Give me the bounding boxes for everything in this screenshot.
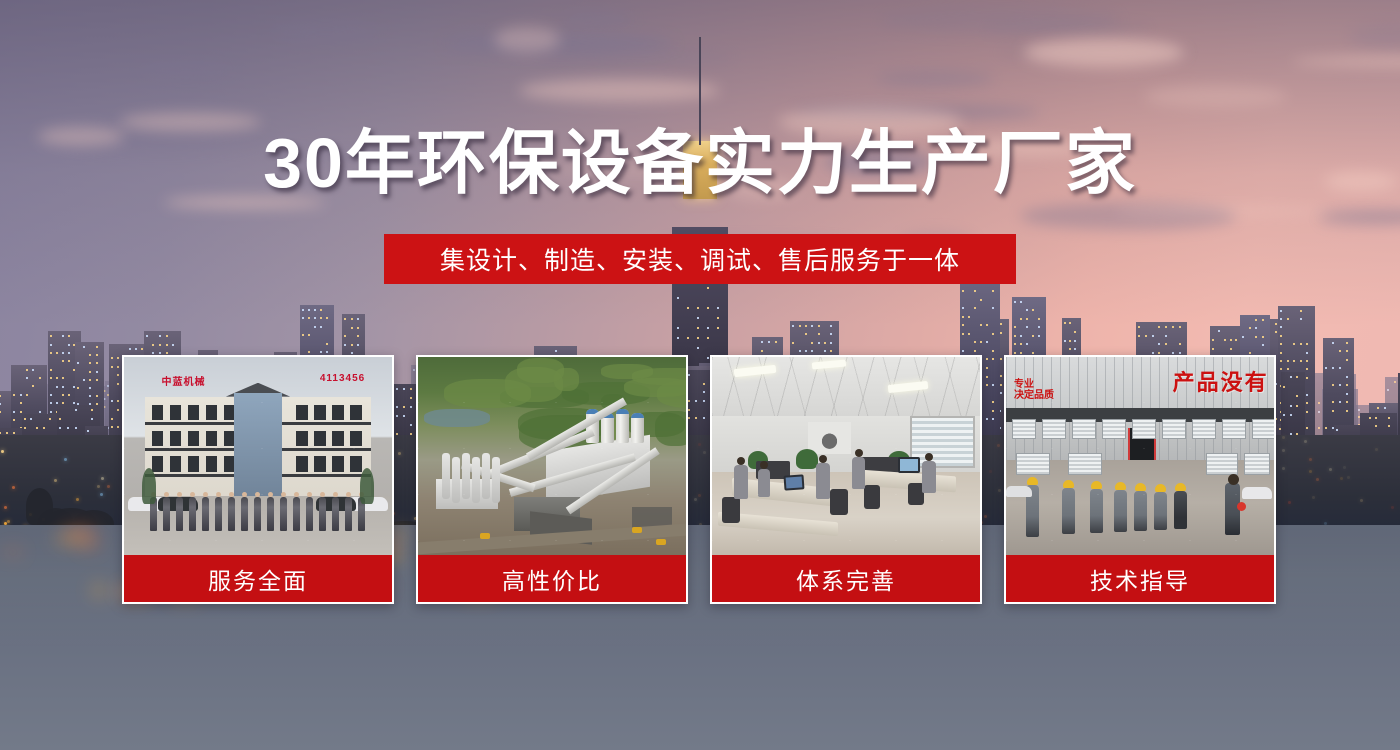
building-window [87, 430, 89, 432]
building-window [1262, 336, 1264, 338]
facade-window [350, 431, 361, 446]
parked-car [1242, 487, 1272, 499]
office-staff-head [855, 449, 863, 457]
staff-head [164, 492, 169, 497]
feature-card-list: 中蓝机械 4113456 服务全面 高性价比 [122, 355, 1278, 604]
card-photo-factory-workers: 产品没有 专业 决定品质 [1006, 357, 1274, 555]
building-window [962, 333, 964, 335]
green-field [655, 411, 686, 446]
building-window [1300, 343, 1302, 345]
building-window [962, 290, 964, 292]
factory-window [1016, 453, 1050, 475]
building-window [811, 350, 813, 352]
building-window [1138, 335, 1140, 337]
building-window [1332, 367, 1334, 369]
building-window [1387, 389, 1389, 391]
preheater-column [472, 457, 480, 503]
building-window [68, 335, 70, 337]
building-window [1346, 393, 1348, 395]
building-window [117, 383, 119, 385]
building-window [1300, 360, 1302, 362]
building-window [761, 341, 763, 343]
building-window [1020, 335, 1022, 337]
building-window [62, 386, 64, 388]
building-window [1026, 309, 1028, 311]
facade-window [206, 405, 217, 420]
staff-head [203, 492, 208, 497]
building-window [0, 411, 1, 413]
building-window [1296, 395, 1298, 397]
tower-window [677, 327, 679, 329]
card-photo-plant-aerial [418, 357, 686, 555]
building-window [1336, 429, 1338, 431]
preheater-column [462, 453, 470, 499]
parked-car [1006, 486, 1032, 497]
cloud [1116, 205, 1330, 217]
factory-slogan-small: 专业 决定品质 [1014, 379, 1054, 402]
card-photo-office-interior [712, 357, 980, 555]
building-window [1296, 405, 1298, 407]
building-window [166, 352, 168, 354]
building-window [89, 362, 91, 364]
building-window [1074, 340, 1076, 342]
building-window [68, 360, 70, 362]
bank-light [1304, 440, 1307, 443]
building-window [1165, 326, 1167, 328]
building-window [89, 395, 91, 397]
building-window [986, 341, 988, 343]
building-window [1158, 352, 1160, 354]
building-window [89, 371, 91, 373]
bank-light [1316, 478, 1319, 481]
office-staff-head [760, 461, 768, 469]
building-window [1138, 326, 1140, 328]
monitor [784, 474, 805, 490]
building-window [1332, 401, 1334, 403]
building-window [1280, 335, 1282, 337]
bank-light [97, 485, 100, 488]
card-caption-guidance: 技术指导 [1006, 555, 1274, 602]
building-window [1069, 322, 1071, 324]
tower-window [697, 347, 699, 349]
subtitle-banner: 集设计、制造、安装、调试、售后服务于一体 [384, 234, 1016, 284]
building-window [39, 377, 41, 379]
excavator [656, 539, 666, 545]
building-window [992, 350, 994, 352]
building-window [135, 348, 137, 350]
building-window [1287, 368, 1289, 370]
building-window [1388, 425, 1390, 427]
building-window [1339, 350, 1341, 352]
building-window [30, 418, 32, 420]
building-window [6, 432, 8, 434]
building-window [1074, 348, 1076, 350]
bank-light [1309, 458, 1312, 461]
building-window [1388, 417, 1390, 419]
building-window [986, 324, 988, 326]
building-window [1158, 326, 1160, 328]
feature-card-value[interactable]: 高性价比 [416, 355, 688, 604]
building-window [1032, 309, 1034, 311]
building-window [1020, 318, 1022, 320]
building-window [166, 335, 168, 337]
building-window [1179, 352, 1181, 354]
building-window [1346, 410, 1348, 412]
facade-window [314, 456, 325, 471]
building-window [13, 432, 15, 434]
bank-light [1329, 468, 1332, 471]
building-window [56, 402, 58, 404]
building-window [1280, 360, 1282, 362]
building-window [775, 341, 777, 343]
building-window [96, 379, 98, 381]
tower-window [707, 327, 709, 329]
building-window [117, 426, 119, 428]
factory-worker [1174, 491, 1187, 529]
cloud [519, 79, 720, 102]
green-field [601, 364, 653, 378]
building-window [344, 344, 346, 346]
building-window [50, 411, 52, 413]
facade-window [206, 456, 217, 471]
building-window [1290, 376, 1292, 378]
building-window [117, 400, 119, 402]
building-window [351, 352, 353, 354]
building-window [799, 350, 801, 352]
building-window [36, 427, 38, 429]
building-window [974, 290, 976, 292]
safety-helmet [1027, 477, 1038, 485]
building-window [962, 350, 964, 352]
building-window [1375, 425, 1377, 427]
office-staff [758, 469, 770, 497]
building-window [62, 352, 64, 354]
wall-poster [808, 422, 851, 454]
building-window [1358, 409, 1360, 411]
ceiling-grid [712, 357, 980, 416]
facade-window [332, 405, 343, 420]
preheater-column [452, 457, 460, 503]
building-window [1332, 384, 1334, 386]
building-window [32, 385, 34, 387]
bank-light [12, 486, 15, 489]
staff-head [268, 492, 273, 497]
building-window [50, 377, 52, 379]
building-window [1158, 343, 1160, 345]
office-chair [722, 497, 740, 523]
building-window [91, 418, 93, 420]
factory-window [1162, 419, 1186, 439]
building-window [1346, 384, 1348, 386]
page-title: 30年环保设备实力生产厂家 [0, 128, 1400, 198]
facade-window [332, 431, 343, 446]
building-window [96, 371, 98, 373]
building-window [117, 366, 119, 368]
bank-light [1375, 448, 1378, 451]
building-window [1275, 323, 1277, 325]
supervisor-head [1228, 474, 1239, 485]
staff-head [255, 492, 260, 497]
red-helmet-held [1237, 502, 1246, 511]
factory-window [1222, 419, 1246, 439]
building-window [1293, 360, 1295, 362]
building-window [152, 344, 154, 346]
building-window [555, 350, 557, 352]
building-window [1020, 352, 1022, 354]
building-window [62, 377, 64, 379]
building-window [1026, 343, 1028, 345]
building-window [172, 344, 174, 346]
building-window [1179, 326, 1181, 328]
staff-head [229, 492, 234, 497]
building-window [1172, 326, 1174, 328]
factory-slogan-small-1: 专业 [1014, 379, 1034, 390]
building-window [59, 418, 61, 420]
building-window [314, 317, 316, 319]
building-window [1014, 326, 1016, 328]
facade-window [296, 431, 307, 446]
building-window [351, 327, 353, 329]
building-window [1300, 318, 1302, 320]
building-window [1394, 381, 1396, 383]
tower-window [697, 307, 699, 309]
building-window [1218, 330, 1220, 332]
office-building-scene: 中蓝机械 4113456 [124, 357, 392, 555]
building-window [1280, 318, 1282, 320]
building-window [1346, 350, 1348, 352]
building-window [326, 343, 328, 345]
building-window [1318, 427, 1320, 429]
building-window [818, 342, 820, 344]
building-window [357, 327, 359, 329]
tree [142, 468, 156, 504]
staff-member [280, 497, 287, 531]
tower-window [707, 287, 709, 289]
office-staff-head [737, 457, 745, 465]
silo-cap [631, 413, 644, 418]
staff-head [177, 492, 182, 497]
building-window [1014, 352, 1016, 354]
bank-light [1288, 501, 1291, 504]
building-window [314, 309, 316, 311]
factory-window [1102, 419, 1126, 439]
factory-window [1244, 453, 1270, 475]
staff-member [267, 497, 274, 531]
building-window [1145, 335, 1147, 337]
building-window [83, 379, 85, 381]
card-photo-office-building: 中蓝机械 4113456 [124, 357, 392, 555]
factory-window [1252, 419, 1274, 439]
building-window [1249, 327, 1251, 329]
factory-window [1132, 419, 1156, 439]
building-window [308, 334, 310, 336]
building-window [1306, 377, 1308, 379]
building-window [96, 354, 98, 356]
building-window [974, 307, 976, 309]
building-window [980, 299, 982, 301]
cloud [561, 14, 633, 24]
staff-head [281, 492, 286, 497]
pond [424, 409, 490, 427]
building-window [1369, 417, 1371, 419]
building-window [49, 418, 51, 420]
building-window [320, 317, 322, 319]
office-staff [734, 465, 748, 499]
building-window [1290, 405, 1292, 407]
building-window [308, 309, 310, 311]
building-window [1152, 352, 1154, 354]
tower-window [677, 297, 679, 299]
safety-helmet [1175, 483, 1186, 491]
building-window [26, 377, 28, 379]
factory-worker [1062, 488, 1075, 534]
tower-window [687, 307, 689, 309]
monitor [898, 457, 920, 473]
building-window [50, 394, 52, 396]
staff-member [306, 497, 313, 531]
bank-light [1, 450, 4, 453]
tower-window [707, 307, 709, 309]
building-window [62, 360, 64, 362]
building-window [1038, 335, 1040, 337]
building-window [117, 357, 119, 359]
building-window [1318, 411, 1320, 413]
building-window [1255, 327, 1257, 329]
building-window [1384, 407, 1386, 409]
building-window [20, 411, 22, 413]
factory-window [1072, 419, 1096, 439]
building-window [1339, 401, 1341, 403]
building-window [968, 316, 970, 318]
building-window [1032, 335, 1034, 337]
building-window [1325, 367, 1327, 369]
bank-light [1340, 477, 1343, 480]
subtitle-text: 集设计、制造、安装、调试、售后服务于一体 [440, 241, 960, 277]
building-window [1179, 343, 1181, 345]
building-window [1306, 402, 1308, 404]
building-window [75, 427, 77, 429]
facade-window [188, 456, 199, 471]
building-window [1287, 318, 1289, 320]
building-window [805, 350, 807, 352]
building-window [320, 326, 322, 328]
building-window [1165, 343, 1167, 345]
tower-window [687, 337, 689, 339]
building-window [159, 344, 161, 346]
building-window [159, 335, 161, 337]
building-window [62, 394, 64, 396]
building-window [96, 346, 98, 348]
bank-light [101, 477, 104, 480]
building-window [357, 335, 359, 337]
building-window [974, 350, 976, 352]
building-window [992, 307, 994, 309]
building-window [1064, 322, 1066, 324]
building-window [67, 427, 69, 429]
facade-window [152, 431, 163, 446]
building-window [968, 333, 970, 335]
building-window [761, 350, 763, 352]
bank-light [64, 458, 67, 461]
tower-window [697, 317, 699, 319]
building-window [26, 394, 28, 396]
facade-window [350, 456, 361, 471]
bank-light [76, 498, 79, 501]
building-window [1306, 427, 1308, 429]
staff-member [345, 497, 352, 531]
card-caption-service: 服务全面 [124, 555, 392, 602]
factory-worker [1114, 490, 1127, 532]
building-window [96, 395, 98, 397]
building-window [62, 335, 64, 337]
building-window [1224, 339, 1226, 341]
preheater-column [492, 457, 500, 503]
building-window [1293, 343, 1295, 345]
water-reflection [92, 583, 106, 598]
building-window [50, 402, 52, 404]
building-window [1346, 359, 1348, 361]
staff-member [176, 497, 183, 531]
tower-window [717, 307, 719, 309]
building-window [1230, 339, 1232, 341]
building-window [68, 352, 70, 354]
building-window [91, 409, 93, 411]
building-window [1255, 336, 1257, 338]
building-window [1000, 323, 1002, 325]
tower-window [707, 337, 709, 339]
staff-head [307, 492, 312, 497]
building-window [1280, 368, 1282, 370]
staff-member [254, 497, 261, 531]
feature-card-system[interactable]: 体系完善 [710, 355, 982, 604]
factory-window [1206, 453, 1238, 475]
building-window [962, 316, 964, 318]
building-window [824, 350, 826, 352]
building-window [13, 419, 15, 421]
staff-member [228, 497, 235, 531]
building-window [159, 352, 161, 354]
building-window [830, 342, 832, 344]
building-window [1346, 401, 1348, 403]
building-window [1014, 301, 1016, 303]
silo-cap [616, 409, 629, 414]
building-window [799, 325, 801, 327]
building-window [344, 318, 346, 320]
building-window [68, 394, 70, 396]
office-staff-head [819, 455, 827, 463]
feature-card-service[interactable]: 中蓝机械 4113456 服务全面 [122, 355, 394, 604]
building-window [320, 351, 322, 353]
card-caption-value: 高性价比 [418, 555, 686, 602]
facade-window [152, 456, 163, 471]
bank-light [1282, 436, 1285, 439]
feature-card-guidance[interactable]: 产品没有 专业 决定品质 技术指导 [1004, 355, 1276, 604]
tower-window [697, 327, 699, 329]
building-sign-text: 中蓝机械 [162, 373, 206, 388]
factory-workers-scene: 产品没有 专业 决定品质 [1006, 357, 1274, 555]
building-window [1346, 376, 1348, 378]
facade-window [314, 405, 325, 420]
building-window [1275, 331, 1277, 333]
building-window [974, 341, 976, 343]
facade-window [152, 405, 163, 420]
building-window [351, 318, 353, 320]
bank-light [100, 493, 103, 496]
cloud [494, 27, 560, 51]
building-window [13, 394, 15, 396]
staff-head [216, 492, 221, 497]
building-window [43, 427, 45, 429]
